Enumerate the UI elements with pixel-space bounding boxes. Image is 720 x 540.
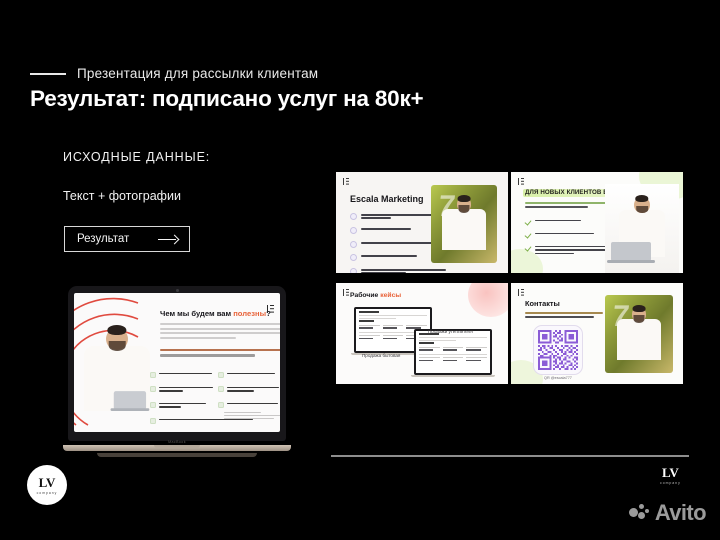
eyebrow-rule: [30, 73, 66, 75]
presenter-photo-escala: 7: [431, 185, 497, 263]
laptop-slide-title-prefix: Чем мы будем вам: [160, 309, 233, 318]
logo-initials: LV: [660, 466, 681, 479]
logo-subtitle: company: [37, 491, 58, 495]
source-data-value: Текст + фотографии: [63, 189, 181, 203]
card-title-cases-prefix: Рабочие: [350, 292, 380, 299]
contacts-note: [525, 312, 603, 320]
laptop-feature-list: [150, 372, 280, 432]
avito-watermark: Avito: [629, 500, 706, 526]
laptop-slide-title: Чем мы будем вам полезны?: [160, 309, 271, 318]
laptop-screen: Чем мы будем вам полезны?: [74, 293, 280, 432]
qr-caption: QR @escala777: [544, 376, 572, 380]
laptop-mockup: Чем мы будем вам полезны?: [63, 286, 291, 457]
feature-item: [150, 386, 218, 394]
check-icon: [525, 245, 531, 251]
slide-card-contacts[interactable]: Контакты: [511, 283, 683, 384]
bullet-icon: [350, 241, 357, 248]
presenter-photo-contacts: 7: [605, 295, 673, 373]
feature-icon: [150, 386, 156, 392]
bullet-icon: [350, 227, 357, 234]
brand-mark-icon: [343, 178, 348, 185]
laptop-shadow: [97, 453, 257, 457]
source-data-label: ИСХОДНЫЕ ДАННЫЕ:: [63, 150, 210, 164]
brand-mark-icon: [343, 289, 348, 296]
card-title-cases-highlight: кейсы: [380, 292, 401, 299]
laptop-lid: Чем мы будем вам полезны?: [68, 286, 286, 441]
feature-item: [150, 402, 218, 410]
card-title-contacts: Контакты: [525, 299, 560, 308]
bullet-icon: [350, 254, 357, 261]
footer-divider: [331, 455, 689, 457]
feature-icon: [150, 372, 156, 378]
bullet-icon: [350, 213, 357, 220]
list-item: [525, 219, 617, 225]
bullet-icon: [350, 268, 357, 273]
slide-canvas: Презентация для рассылки клиентам Резуль…: [0, 0, 720, 540]
laptop-intro-paragraph: [160, 323, 280, 341]
check-icon: [525, 219, 531, 225]
laptop-offer-paragraph: [160, 349, 280, 360]
list-item: [525, 232, 617, 238]
page-title: Результат: подписано услуг на 80к+: [30, 86, 423, 112]
card-title-escala: Escala Marketing: [350, 194, 424, 204]
check-icon: [525, 232, 531, 238]
brand-mark-icon: [518, 178, 523, 185]
slide-card-new-clients[interactable]: ДЛЯ НОВЫХ КЛИЕНТОВ В ЭТОМ МЕСЯЦЕ: [511, 172, 683, 273]
eyebrow-label: Презентация для рассылки клиентам: [77, 66, 318, 81]
slide-card-escala[interactable]: Escala Marketing 7: [336, 172, 508, 273]
laptop-footnote: [224, 412, 280, 420]
list-item: [525, 245, 617, 256]
logo-subtitle: company: [660, 481, 681, 485]
logo-text: LV company: [660, 466, 681, 485]
brand-mark-icon: [518, 289, 523, 296]
feature-icon: [150, 418, 156, 424]
device-label: MacBook: [168, 440, 186, 444]
logo-initials: LV: [39, 476, 56, 489]
feature-item: [218, 386, 280, 394]
new-clients-check-list: [525, 219, 617, 263]
qr-code-image: [538, 330, 578, 370]
result-button-label: Результат: [77, 233, 129, 245]
card-title-cases: Рабочие кейсы: [350, 292, 401, 299]
caption-cases-right: Продажи утеплителя: [428, 329, 473, 334]
list-item: [350, 268, 448, 273]
caption-cases-left: Продажа бытовая: [362, 353, 400, 358]
result-button[interactable]: Результат: [64, 226, 190, 252]
feature-icon: [218, 372, 224, 378]
presenter-photo-new-clients: [605, 184, 679, 273]
eyebrow: Презентация для рассылки клиентам: [30, 66, 318, 81]
brand-mark-icon: [267, 305, 273, 313]
logo-badge: LV company: [27, 465, 67, 505]
laptop-notch: [154, 445, 200, 448]
feature-icon: [218, 386, 224, 392]
feature-item: [218, 372, 280, 378]
decorative-blob: [468, 283, 508, 317]
arrow-right-icon: [158, 235, 178, 244]
feature-item: [218, 402, 280, 410]
mini-laptop-right: [414, 329, 492, 377]
qr-code[interactable]: [533, 325, 583, 375]
feature-item: [150, 372, 218, 378]
feature-icon: [150, 402, 156, 408]
laptop-slide-title-highlight: полезны: [233, 309, 266, 318]
slide-card-cases[interactable]: Рабочие кейсы: [336, 283, 508, 384]
webcam-icon: [176, 289, 179, 292]
avito-wordmark: Avito: [655, 500, 706, 526]
presenter-photo-laptop: [76, 320, 158, 432]
feature-icon: [218, 402, 224, 408]
avito-logo-icon: [629, 504, 651, 523]
